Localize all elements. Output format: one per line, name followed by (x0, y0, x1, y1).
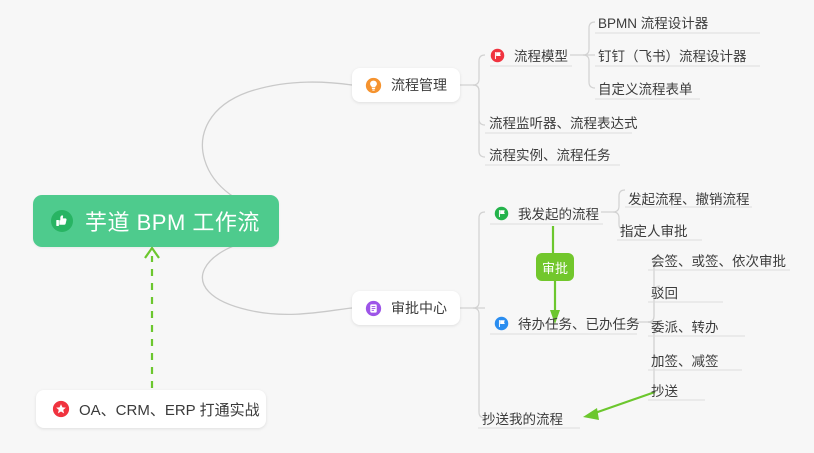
leaf-label-assignee-approve: 指定人审批 (620, 220, 688, 240)
leaf-assignee-approve[interactable]: 指定人审批 (620, 220, 688, 243)
oa-integration-label: OA、CRM、ERP 打通实战 (79, 399, 260, 420)
flag-icon (494, 206, 509, 221)
mindmap-canvas: 芋道 BPM 工作流 流程管理 审批中心 (0, 0, 814, 453)
leaf-label-cc-to-me: 抄送我的流程 (482, 408, 563, 428)
wire-lg-to-model (473, 55, 485, 85)
leaf-bpmn-designer[interactable]: BPMN 流程设计器 (598, 12, 708, 35)
thumbs-up-icon (50, 209, 74, 233)
leaf-add-remove-sign[interactable]: 加签、减签 (651, 350, 719, 373)
wire-sz-to-my (473, 212, 485, 308)
flag-icon (494, 316, 509, 331)
leaf-todo-done[interactable]: 待办任务、已办任务 (494, 313, 640, 336)
branch-label-shenpi-zhongxin: 审批中心 (391, 298, 447, 318)
wire-lg-to-instance (473, 85, 485, 157)
leaf-dingtalk-designer[interactable]: 钉钉（飞书）流程设计器 (598, 45, 747, 68)
leaf-label-todo-done: 待办任务、已办任务 (518, 313, 640, 333)
root-node[interactable]: 芋道 BPM 工作流 (33, 195, 279, 247)
leaf-label-liucheng-moxing: 流程模型 (514, 45, 568, 65)
clipboard-icon (365, 300, 382, 317)
root-label: 芋道 BPM 工作流 (85, 205, 260, 237)
cc-flow-arrow (592, 392, 655, 414)
branch-node-shenpi-zhongxin[interactable]: 审批中心 (352, 291, 460, 325)
wire-root-to-liucheng-guanli (202, 82, 352, 212)
leaf-label-cc: 抄送 (651, 380, 678, 400)
flag-icon (490, 48, 505, 63)
wire-lg-to-listener (473, 85, 485, 125)
leaf-delegate-transfer[interactable]: 委派、转办 (651, 316, 719, 339)
leaf-label-add-remove-sign: 加签、减签 (651, 350, 719, 370)
approval-tag[interactable]: 审批 (536, 253, 574, 281)
leaf-cc-to-me[interactable]: 抄送我的流程 (482, 408, 563, 431)
oa-arrowhead (145, 248, 159, 258)
wire-my-to-start (613, 190, 625, 212)
wire-sz-to-ccme (473, 308, 485, 418)
leaf-instance-task[interactable]: 流程实例、流程任务 (489, 144, 611, 167)
leaf-label-instance-task: 流程实例、流程任务 (489, 144, 611, 164)
leaf-label-listener-expression: 流程监听器、流程表达式 (489, 112, 638, 132)
leaf-reject[interactable]: 驳回 (651, 282, 678, 305)
leaf-countersign[interactable]: 会签、或签、依次审批 (651, 250, 786, 273)
leaf-my-initiated[interactable]: 我发起的流程 (494, 203, 599, 226)
leaf-label-reject: 驳回 (651, 282, 678, 302)
leaf-listener-expression[interactable]: 流程监听器、流程表达式 (489, 112, 638, 135)
leaf-label-countersign: 会签、或签、依次审批 (651, 250, 786, 270)
leaf-custom-form[interactable]: 自定义流程表单 (598, 78, 693, 101)
lightbulb-icon (365, 77, 382, 94)
leaf-label-bpmn-designer: BPMN 流程设计器 (598, 12, 708, 32)
leaf-label-dingtalk-designer: 钉钉（飞书）流程设计器 (598, 45, 747, 65)
leaf-label-delegate-transfer: 委派、转办 (651, 316, 719, 336)
leaf-label-custom-form: 自定义流程表单 (598, 78, 693, 98)
leaf-start-cancel[interactable]: 发起流程、撤销流程 (628, 188, 750, 211)
branch-node-liucheng-guanli[interactable]: 流程管理 (352, 68, 460, 102)
leaf-label-start-cancel: 发起流程、撤销流程 (628, 188, 750, 208)
cc-arrowhead (583, 408, 599, 420)
branch-label-liucheng-guanli: 流程管理 (391, 75, 447, 95)
approval-tag-label: 审批 (542, 258, 568, 277)
leaf-label-my-initiated: 我发起的流程 (518, 203, 599, 223)
wire-model-to-bpmn (583, 22, 595, 55)
wire-model-to-form (583, 55, 595, 88)
leaf-liucheng-moxing[interactable]: 流程模型 (490, 45, 568, 68)
oa-integration-card[interactable]: OA、CRM、ERP 打通实战 (36, 390, 266, 428)
star-icon (52, 400, 70, 418)
leaf-cc[interactable]: 抄送 (651, 380, 678, 403)
